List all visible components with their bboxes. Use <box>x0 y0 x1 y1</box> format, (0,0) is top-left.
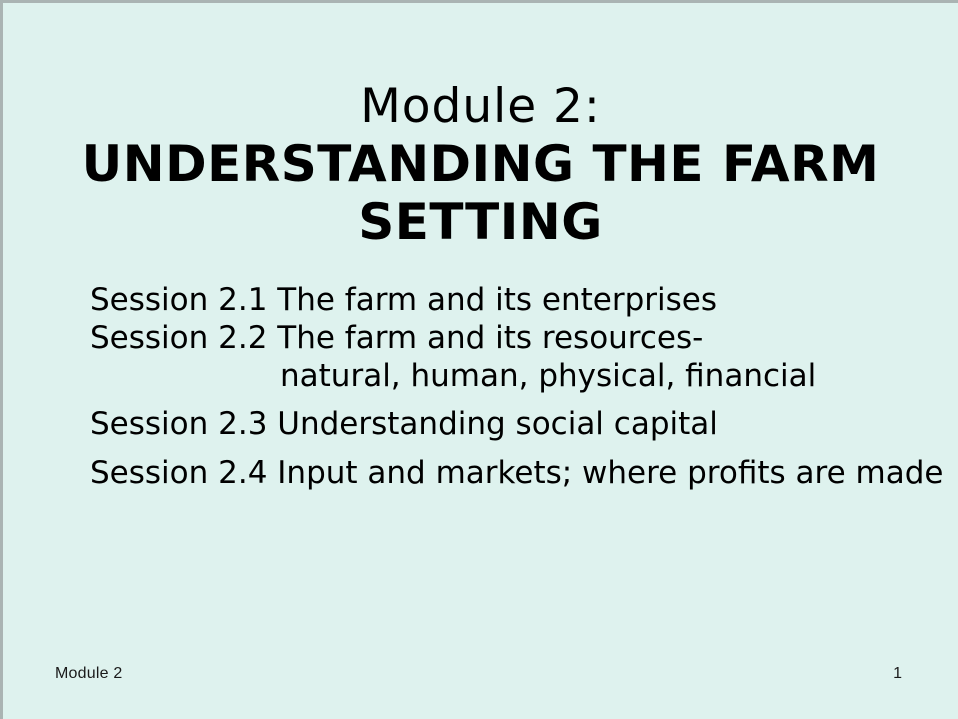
session-item-2-2: Session 2.2 The farm and its resources- <box>90 319 950 357</box>
session-item-2-3: Session 2.3 Understanding social capital <box>90 405 950 443</box>
slide-canvas: Module 2: UNDERSTANDING THE FARM SETTING… <box>0 0 958 719</box>
title-line-understanding-the-farm: UNDERSTANDING THE FARM <box>3 135 958 193</box>
title-line-module: Module 2: <box>3 79 958 135</box>
slide-title: Module 2: UNDERSTANDING THE FARM SETTING <box>3 79 958 251</box>
footer-module-label: Module 2 <box>55 665 122 683</box>
title-line-setting: SETTING <box>3 193 958 251</box>
session-item-2-2-continuation: natural, human, physical, financial <box>90 357 950 395</box>
session-list: Session 2.1 The farm and its enterprises… <box>90 281 950 492</box>
session-item-2-1: Session 2.1 The farm and its enterprises <box>90 281 950 319</box>
footer-page-number: 1 <box>893 665 902 683</box>
session-item-2-4: Session 2.4 Input and markets; where pro… <box>90 454 950 492</box>
